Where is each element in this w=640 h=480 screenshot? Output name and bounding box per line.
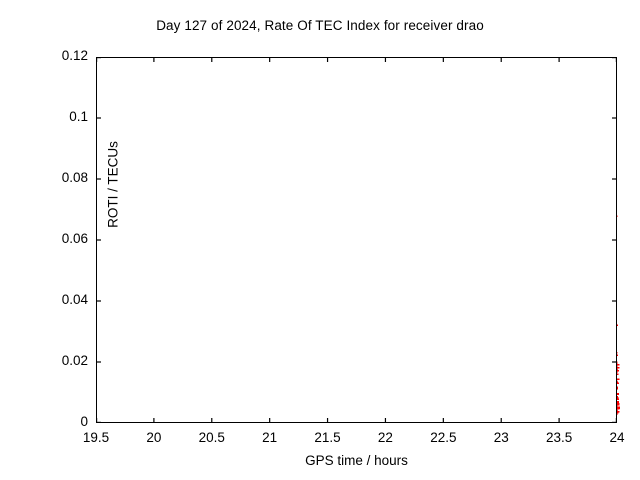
x-tick-label: 22 — [355, 430, 415, 445]
y-tick-label: 0 — [32, 414, 88, 429]
chart-root: Day 127 of 2024, Rate Of TEC Index for r… — [0, 0, 640, 480]
x-tick-label: 22.5 — [413, 430, 473, 445]
y-tick-label: 0.02 — [32, 353, 88, 368]
chart-title: Day 127 of 2024, Rate Of TEC Index for r… — [0, 18, 640, 33]
axis-ticks — [96, 57, 617, 423]
y-tick-label: 0.06 — [32, 231, 88, 246]
x-tick-label: 19.5 — [66, 430, 126, 445]
x-tick-label: 23 — [471, 430, 531, 445]
x-tick-label: 24 — [587, 430, 640, 445]
x-tick-label: 21 — [240, 430, 300, 445]
y-tick-label: 0.04 — [32, 292, 88, 307]
x-axis-title: GPS time / hours — [96, 453, 617, 468]
plot-area: 00.020.040.060.080.10.12 19.52020.52121.… — [96, 57, 617, 423]
y-tick-label: 0.1 — [32, 109, 88, 124]
x-tick-label: 23.5 — [529, 430, 589, 445]
y-tick-label: 0.12 — [32, 48, 88, 63]
x-tick-label: 20 — [124, 430, 184, 445]
y-tick-label: 0.08 — [32, 170, 88, 185]
y-axis-title: ROTI / TECUs — [106, 115, 121, 255]
x-tick-label: 20.5 — [182, 430, 242, 445]
x-tick-label: 21.5 — [298, 430, 358, 445]
